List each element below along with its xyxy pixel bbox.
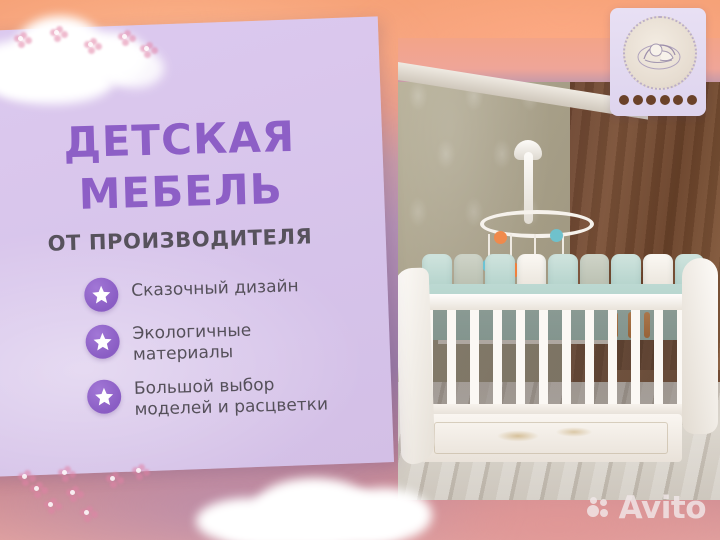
list-item-label: Сказочный дизайн xyxy=(131,272,299,302)
feature-list: Сказочный дизайн Экологичные материалы Б… xyxy=(84,270,388,435)
badge-dot xyxy=(619,95,629,105)
crib-ornament xyxy=(488,422,608,448)
avito-watermark: Avito xyxy=(587,490,706,526)
crib-bars xyxy=(424,306,694,408)
crib xyxy=(398,160,720,460)
mobile-toy-bead xyxy=(550,229,563,242)
list-item-label-line-2: моделей и расцветки xyxy=(134,394,328,419)
sleeping-baby-seal-icon xyxy=(623,16,697,90)
badge-dot xyxy=(660,95,670,105)
badge-dot xyxy=(673,95,683,105)
badge-dot xyxy=(687,95,697,105)
page-title: ДЕТСКАЯ МЕБЕЛЬ xyxy=(0,109,361,223)
list-item: Большой выбор моделей и расцветки xyxy=(87,372,388,422)
star-icon xyxy=(85,324,120,359)
brand-badge xyxy=(610,8,706,116)
crib-rail-top xyxy=(416,294,702,310)
list-item-label: Экологичные материалы xyxy=(132,321,252,366)
title-line-1: ДЕТСКАЯ xyxy=(63,112,296,167)
title-line-2: МЕБЕЛЬ xyxy=(0,161,361,223)
list-item-label: Большой выбор моделей и расцветки xyxy=(134,373,329,420)
star-icon xyxy=(87,379,122,414)
badge-dots xyxy=(619,94,697,106)
avito-wordmark: Avito xyxy=(619,490,706,526)
list-item-label-line-1: Большой выбор xyxy=(134,375,275,399)
page-subtitle: ОТ ПРОИЗВОДИТЕЛЯ xyxy=(0,223,360,257)
list-item: Сказочный дизайн xyxy=(84,270,385,312)
badge-dot xyxy=(646,95,656,105)
mobile-toy-bead xyxy=(494,231,507,244)
crib-post-right xyxy=(682,258,718,434)
avito-logo-icon xyxy=(587,496,612,521)
ad-content: ДЕТСКАЯ МЕБЕЛЬ ОТ ПРОИЗВОДИТЕЛЯ Сказочны… xyxy=(0,0,398,540)
list-item-label-line-1: Экологичные xyxy=(132,321,251,344)
list-item: Экологичные материалы xyxy=(85,317,386,367)
list-item-label-line-2: материалы xyxy=(133,342,234,365)
star-icon xyxy=(84,277,119,312)
ad-banner: ДЕТСКАЯ МЕБЕЛЬ ОТ ПРОИЗВОДИТЕЛЯ Сказочны… xyxy=(0,0,720,540)
badge-dot xyxy=(633,95,643,105)
